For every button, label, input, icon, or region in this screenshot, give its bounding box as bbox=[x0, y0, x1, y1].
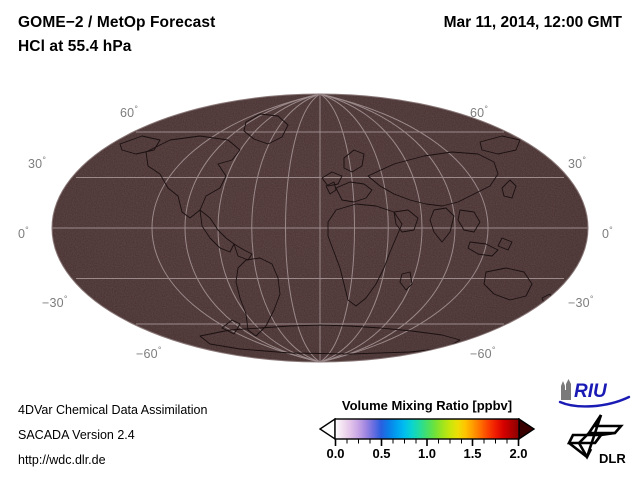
lat-label-right-30: 30° bbox=[568, 155, 586, 171]
colorbar: Volume Mixing Ratio [ppbv] bbox=[318, 398, 536, 470]
lat-label-left-minus30: −30° bbox=[42, 294, 67, 310]
figure-canvas: GOME−2 / MetOp Forecast HCl at 55.4 hPa … bbox=[0, 0, 640, 480]
riu-tower-icon bbox=[561, 379, 571, 400]
dlr-wordmark: DLR bbox=[599, 451, 626, 465]
colorbar-low-cap bbox=[320, 419, 335, 439]
map-panel bbox=[0, 78, 640, 378]
figure-title: GOME−2 / MetOp Forecast HCl at 55.4 hPa bbox=[18, 14, 215, 56]
footer-line-url[interactable]: http://wdc.dlr.de bbox=[18, 453, 106, 467]
mollweide-globe bbox=[50, 92, 590, 364]
title-line-2: HCl at 55.4 hPa bbox=[18, 38, 215, 56]
colorbar-tick-2: 1.0 bbox=[418, 446, 436, 461]
colorbar-gradient bbox=[335, 419, 519, 439]
colorbar-high-cap bbox=[519, 419, 534, 439]
dlr-logo: DLR bbox=[565, 413, 633, 465]
colorbar-tick-4: 2.0 bbox=[509, 446, 527, 461]
riu-logo: RIU bbox=[558, 378, 632, 408]
colorbar-tick-3: 1.5 bbox=[463, 446, 481, 461]
lat-label-left-0: 0° bbox=[18, 225, 29, 241]
lat-label-left-minus60: −60° bbox=[136, 345, 161, 361]
lat-label-left-30: 30° bbox=[28, 155, 46, 171]
lat-label-left-60: 60° bbox=[120, 104, 138, 120]
colorbar-tick-1: 0.5 bbox=[372, 446, 390, 461]
lat-label-right-0: 0° bbox=[602, 225, 613, 241]
footer-line-version: SACADA Version 2.4 bbox=[18, 428, 135, 442]
figure-datetime: Mar 11, 2014, 12:00 GMT bbox=[444, 14, 622, 32]
colorbar-ticks bbox=[336, 439, 519, 446]
lat-label-right-60: 60° bbox=[470, 104, 488, 120]
title-line-1: GOME−2 / MetOp Forecast bbox=[18, 14, 215, 32]
colorbar-title: Volume Mixing Ratio [ppbv] bbox=[318, 398, 536, 413]
lat-label-right-minus60: −60° bbox=[470, 345, 495, 361]
colorbar-svg bbox=[318, 418, 536, 448]
globe-svg bbox=[50, 92, 590, 364]
lat-label-right-minus30: −30° bbox=[568, 294, 593, 310]
riu-wordmark: RIU bbox=[574, 381, 608, 402]
footer-line-method: 4DVar Chemical Data Assimilation bbox=[18, 403, 207, 417]
colorbar-tick-0: 0.0 bbox=[326, 446, 344, 461]
